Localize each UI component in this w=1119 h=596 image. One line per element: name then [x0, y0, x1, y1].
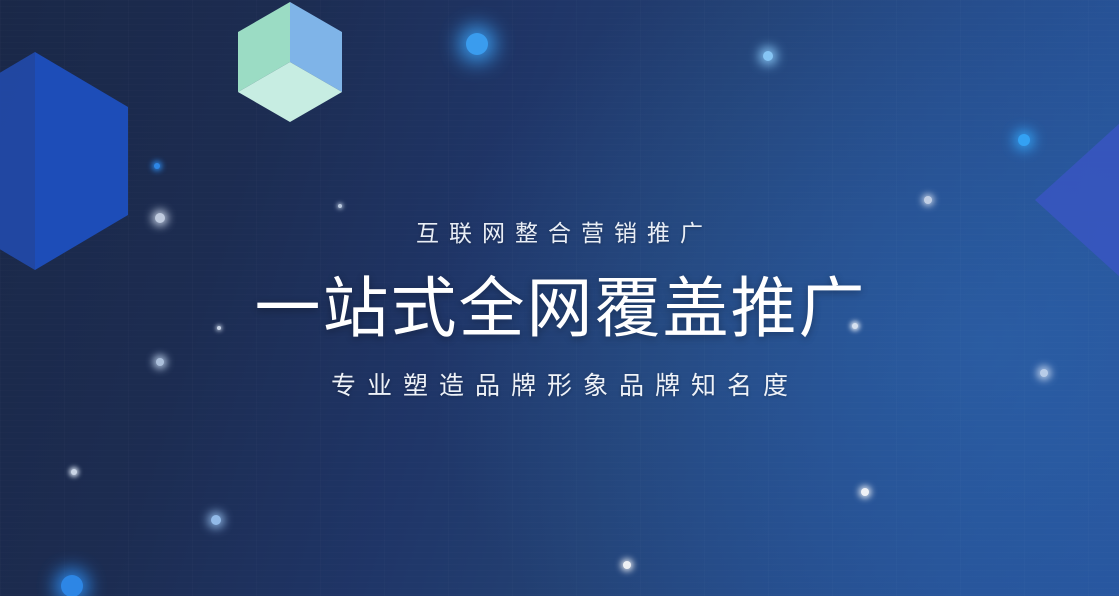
eyebrow-text: 互联网整合营销推广: [0, 216, 1119, 250]
particle-dot: [623, 561, 631, 569]
particle-dot: [861, 488, 869, 496]
particle-dot: [1018, 134, 1030, 146]
hero-text-block: 互联网整合营销推广 一站式全网覆盖推广 专业塑造品牌形象品牌知名度: [0, 216, 1119, 404]
headline-text: 一站式全网覆盖推广: [0, 262, 1119, 354]
particle-dot: [763, 51, 773, 61]
particle-dot: [924, 196, 932, 204]
subline-text: 专业塑造品牌形象品牌知名度: [0, 368, 1119, 404]
particle-dot: [71, 469, 77, 475]
particle-dot: [338, 204, 342, 208]
particle-dot: [154, 163, 160, 169]
promo-banner: 互联网整合营销推广 一站式全网覆盖推广 专业塑造品牌形象品牌知名度: [0, 0, 1119, 596]
particle-dot: [211, 515, 221, 525]
particle-dot: [61, 575, 83, 596]
isometric-cube-logo-icon: [238, 2, 342, 122]
particle-dot: [466, 33, 488, 55]
